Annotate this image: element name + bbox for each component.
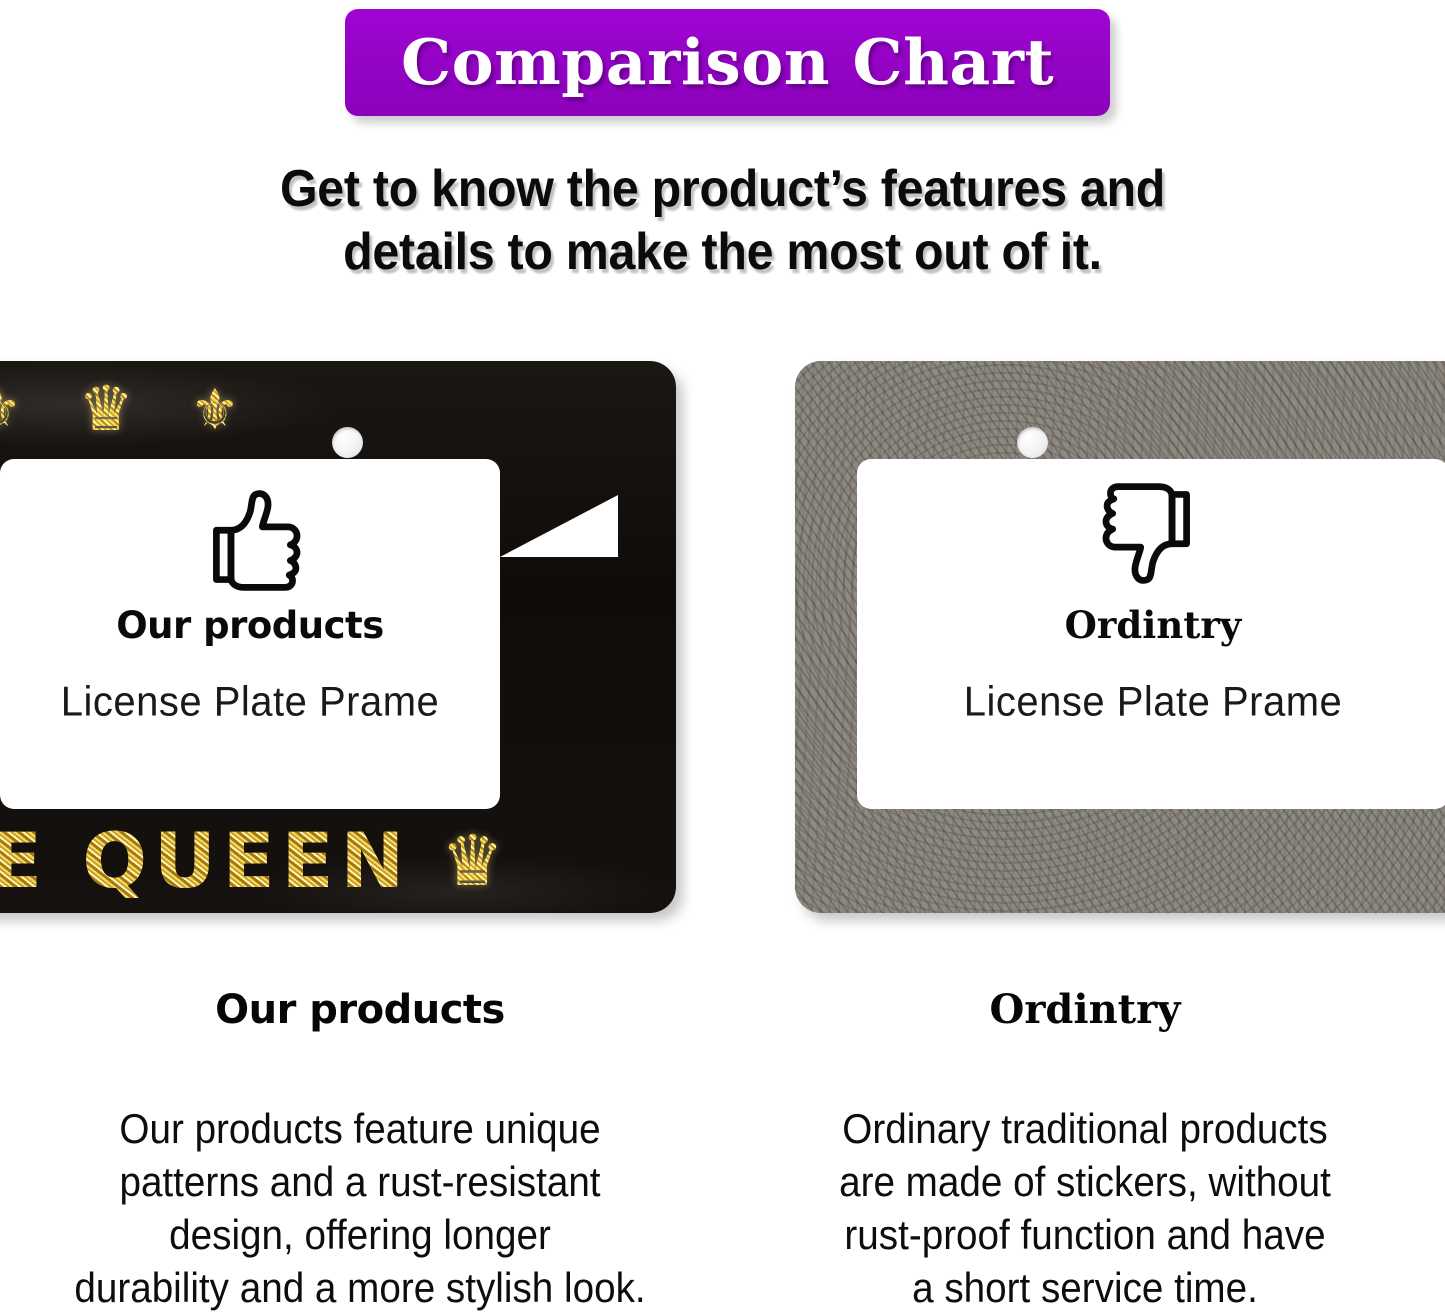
ordinary-product-window-content: Ordintry License Plate Prame (857, 459, 1445, 809)
column-heading: Ordintry (735, 990, 1435, 1030)
our-product-license-plate-frame: ⚜ ♛ ⚜ E QUEEN ♛ Our products License Pla… (0, 361, 676, 913)
comparison-chart-banner: Comparison Chart (345, 9, 1110, 116)
window-title: Ordintry (1065, 607, 1242, 644)
subtitle-line-1: Get to know the product’s features and (51, 158, 1395, 221)
window-subtitle: License Plate Prame (964, 681, 1343, 723)
plate-aperture: Our products License Plate Prame (0, 459, 500, 809)
subtitle-line-2: details to make the most out of it. (51, 221, 1395, 284)
window-title: Our products (116, 607, 384, 644)
column-body: Our products feature unique patterns and… (38, 1102, 682, 1314)
window-subtitle: License Plate Prame (61, 681, 440, 723)
plate-aperture: Ordintry License Plate Prame (857, 459, 1445, 809)
body-line: Ordinary traditional products (763, 1102, 1407, 1155)
product-frames-area: ⚜ ♛ ⚜ E QUEEN ♛ Our products License Pla… (0, 355, 1445, 925)
column-heading: Our products (10, 990, 710, 1030)
body-line: rust-proof function and have (763, 1208, 1407, 1261)
page-subtitle: Get to know the product’s features and d… (51, 158, 1395, 284)
mounting-screw-hole (332, 427, 363, 458)
body-line: patterns and a rust-resistant (38, 1155, 682, 1208)
thumbs-up-icon (194, 481, 306, 593)
our-product-window-content: Our products License Plate Prame (0, 459, 500, 809)
our-products-column: Our products Our products feature unique… (10, 990, 710, 1314)
body-line: Our products feature unique (38, 1102, 682, 1155)
mounting-screw-hole (1017, 427, 1048, 458)
page-title: Comparison Chart (401, 31, 1054, 94)
thumbs-down-icon (1097, 481, 1209, 593)
body-line: durability and a more stylish look. (38, 1261, 682, 1314)
ordintry-column: Ordintry Ordinary traditional products a… (735, 990, 1435, 1314)
comparison-columns: Our products Our products feature unique… (0, 990, 1445, 1314)
body-line: are made of stickers, without (763, 1155, 1407, 1208)
column-body: Ordinary traditional products are made o… (763, 1102, 1407, 1314)
body-line: a short service time. (763, 1261, 1407, 1314)
body-line: design, offering longer (38, 1208, 682, 1261)
ordinary-product-license-plate-frame: Ordintry License Plate Prame (795, 361, 1445, 913)
